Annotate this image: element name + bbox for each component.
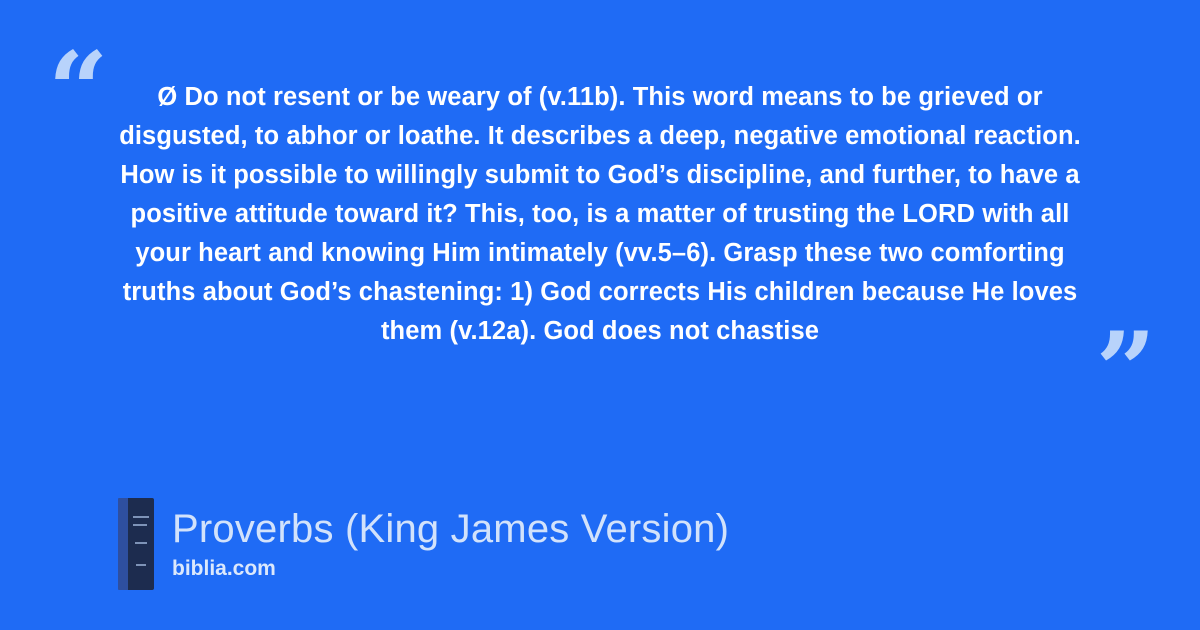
book-text-line	[133, 524, 147, 526]
book-text-line	[136, 564, 146, 566]
book-cover	[128, 498, 154, 590]
open-quote-icon: “	[48, 38, 106, 143]
attribution-footer: Proverbs (King James Version) biblia.com	[118, 498, 729, 590]
close-quote-icon: ”	[1096, 318, 1154, 423]
quote-text: Ø Do not resent or be weary of (v.11b). …	[110, 78, 1090, 351]
source-label: biblia.com	[172, 555, 729, 583]
book-icon	[118, 498, 154, 590]
reference-title: Proverbs (King James Version)	[172, 505, 729, 553]
book-text-line	[135, 542, 147, 544]
attribution-titles: Proverbs (King James Version) biblia.com	[172, 505, 729, 583]
book-text-line	[133, 516, 149, 518]
quote-card: “ Ø Do not resent or be weary of (v.11b)…	[0, 0, 1200, 630]
